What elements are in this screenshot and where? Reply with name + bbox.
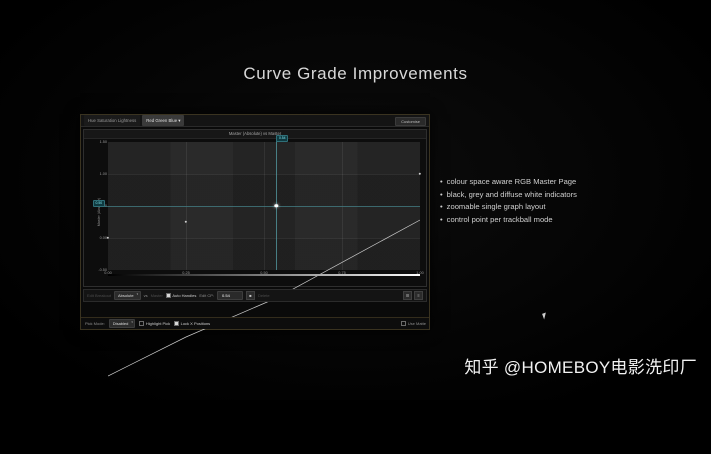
checkbox-icon	[166, 293, 171, 298]
checkbox-icon	[401, 321, 406, 326]
vs-label: vs	[144, 293, 148, 298]
graph-panel: Master (Absolute) vs Master Master (Abso…	[83, 129, 427, 287]
plot-area[interactable]: 1.50 1.00 0.50 0.00 -0.50 0.00 0.25 0.50…	[108, 142, 420, 270]
bullet-label: colour space aware RGB Master Page	[447, 176, 577, 189]
lock-x-positions-checkbox[interactable]: Lock X Positions	[174, 321, 210, 326]
bullet-dot-icon: •	[440, 176, 443, 189]
checkbox-icon	[139, 321, 144, 326]
bullet-label: zoomable single graph layout	[447, 201, 546, 214]
breakout-mode-dropdown[interactable]: Absolute	[114, 291, 141, 300]
tab-red-green-blue[interactable]: Red Green Blue ▾	[142, 115, 184, 126]
checkbox-icon	[174, 321, 179, 326]
toolbar-right-group: ☰ ≡	[403, 291, 423, 300]
tab-hue-saturation-lightness[interactable]: Hue Saturation Lightness	[84, 115, 140, 126]
bullet-label: black, grey and diffuse white indicators	[447, 189, 577, 202]
bullet-dot-icon: •	[440, 189, 443, 202]
edit-breakout-label: Edit Breakout	[87, 293, 111, 298]
y-tick-label: 1.50	[100, 140, 107, 144]
bullet-dot-icon: •	[440, 214, 443, 227]
plot-wrapper: Master (Absolute) 1.50 1.00 0.50 0.00 -0…	[84, 138, 426, 286]
auto-handles-checkbox[interactable]: Auto Handles	[166, 293, 197, 298]
auto-handles-label: Auto Handles	[172, 293, 196, 298]
feature-bullet-list: • colour space aware RGB Master Page • b…	[440, 176, 670, 226]
list-item: • control point per trackball mode	[440, 214, 670, 227]
watermark-label: 知乎 @HOMEBOY电影洗印厂	[464, 353, 697, 378]
teal-value-tag-x: 0.54	[276, 135, 288, 142]
pick-mode-dropdown[interactable]: Disabled	[109, 319, 136, 328]
highlight-pick-toggle[interactable]: Highlight Pick	[139, 321, 170, 326]
edit-toolbar: Edit Breakout Absolute vs Master Auto Ha…	[83, 289, 427, 302]
tab-bar: Hue Saturation Lightness Red Green Blue …	[81, 115, 429, 127]
highlight-pick-label: Highlight Pick	[146, 321, 170, 326]
customise-button[interactable]: Customise	[395, 117, 426, 126]
list-item: • colour space aware RGB Master Page	[440, 176, 670, 189]
list-item: • zoomable single graph layout	[440, 201, 670, 214]
bullet-dot-icon: •	[440, 201, 443, 214]
status-bar: Pick Mode: Disabled Highlight Pick Lock …	[81, 317, 429, 329]
pick-mode-label: Pick Mode:	[85, 321, 105, 326]
use-matte-label: Use Matte	[408, 321, 426, 326]
teal-value-tag-y: 0.50	[93, 200, 105, 207]
delete-control-point-icon[interactable]: ■	[246, 291, 255, 300]
edit-cp-label: Edit CP:	[199, 293, 214, 298]
graph-layout-icon[interactable]: ☰	[403, 291, 412, 300]
slide-canvas: Curve Grade Improvements Hue Saturation …	[0, 0, 711, 400]
vs-target-label: Master	[151, 293, 163, 298]
use-matte-group[interactable]: Use Matte	[401, 321, 426, 326]
mouse-cursor-icon	[542, 312, 548, 319]
list-item: • black, grey and diffuse white indicato…	[440, 189, 670, 202]
bullet-label: control point per trackball mode	[447, 214, 553, 227]
lock-x-label: Lock X Positions	[181, 321, 211, 326]
delete-label: Delete	[258, 293, 270, 298]
curve-grade-window: Hue Saturation Lightness Red Green Blue …	[80, 114, 430, 330]
luminance-gradient-strip	[108, 274, 420, 277]
page-title: Curve Grade Improvements	[0, 64, 711, 84]
edit-cp-input[interactable]: 0.54	[217, 291, 243, 300]
curve-list-icon[interactable]: ≡	[414, 291, 423, 300]
y-tick-label: 1.00	[100, 172, 107, 176]
